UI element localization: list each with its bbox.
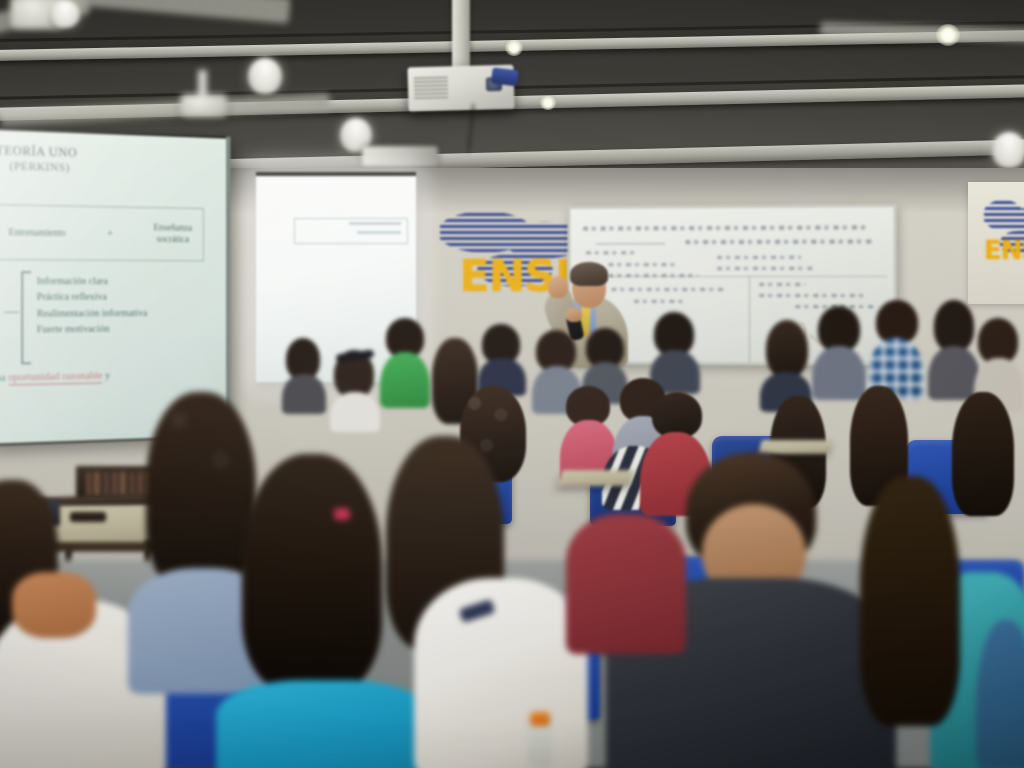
ceiling-projector xyxy=(407,65,514,112)
slide-formula-box: + Entrenamiento + Enseñanza socrática xyxy=(0,203,204,261)
ceiling-light-point xyxy=(505,40,523,56)
ensj-wordmark: ENSJ xyxy=(984,236,1024,266)
student-shoulder-skin xyxy=(12,572,96,638)
speaker-hair xyxy=(570,262,608,286)
ceiling-light-point xyxy=(936,24,960,46)
projector-track-box xyxy=(362,146,438,166)
ceiling-light-point xyxy=(540,96,556,110)
slide-term-entrenamiento: Entrenamiento xyxy=(9,227,66,239)
slide-footer-highlight: oportunidad razonable xyxy=(8,370,102,386)
student-back-9 xyxy=(928,300,980,396)
projector-vent xyxy=(414,76,449,99)
speaker-hand-mic xyxy=(566,308,582,322)
ceiling-lamp xyxy=(992,132,1024,168)
student-back-7 xyxy=(760,320,812,406)
slide-bullet: Fuerte motivación xyxy=(37,321,148,338)
ceiling-fan xyxy=(0,92,360,136)
slide-term-ensenanza: Enseñanza socrática xyxy=(153,222,192,246)
slide-footer-suffix: y xyxy=(103,370,111,382)
student-green-shirt xyxy=(380,318,430,404)
student-back-8 xyxy=(812,306,866,396)
projector-mount-pole xyxy=(452,0,470,74)
slide-footer-prefix: do tiene una xyxy=(0,372,8,385)
student-back-2 xyxy=(330,350,380,426)
classroom-photo: TEORÍA UNO (PERKINS) + Entrenamiento + E… xyxy=(0,0,1024,768)
student-maroon-shirt xyxy=(566,494,686,644)
student-right-edge xyxy=(976,620,1024,768)
student-long-hair-5 xyxy=(860,476,970,768)
slide-brace xyxy=(21,271,31,364)
speaker-hand xyxy=(548,276,568,298)
ensj-logo-secondary: ENSJ xyxy=(984,196,1024,270)
slide-bullet: Información clara xyxy=(37,274,148,290)
ceiling-fan xyxy=(0,0,300,52)
ceiling-fan xyxy=(820,14,1024,58)
ceiling-lamp xyxy=(50,0,80,28)
slide-bullet: Realimentación informativa xyxy=(37,306,148,323)
slide-plus: + xyxy=(107,228,112,239)
student-plaid-shirt xyxy=(868,300,924,396)
slide-footer-text: do tiene una oportunidad razonable y xyxy=(0,370,110,385)
bottle-cap xyxy=(530,712,550,726)
slide-dash xyxy=(4,312,20,313)
slide-bullet: Práctica reflexiva xyxy=(37,290,148,306)
projector-connector xyxy=(491,67,519,86)
slide-bullet-list: Información clara Práctica reflexiva Rea… xyxy=(37,274,148,338)
ceiling-lamp xyxy=(248,58,282,94)
student-back-3 xyxy=(478,324,526,390)
student-back-1 xyxy=(282,338,326,408)
hair-tie xyxy=(334,508,350,520)
screen-faint-textbox xyxy=(294,218,408,244)
student-white-blouse xyxy=(368,436,586,768)
